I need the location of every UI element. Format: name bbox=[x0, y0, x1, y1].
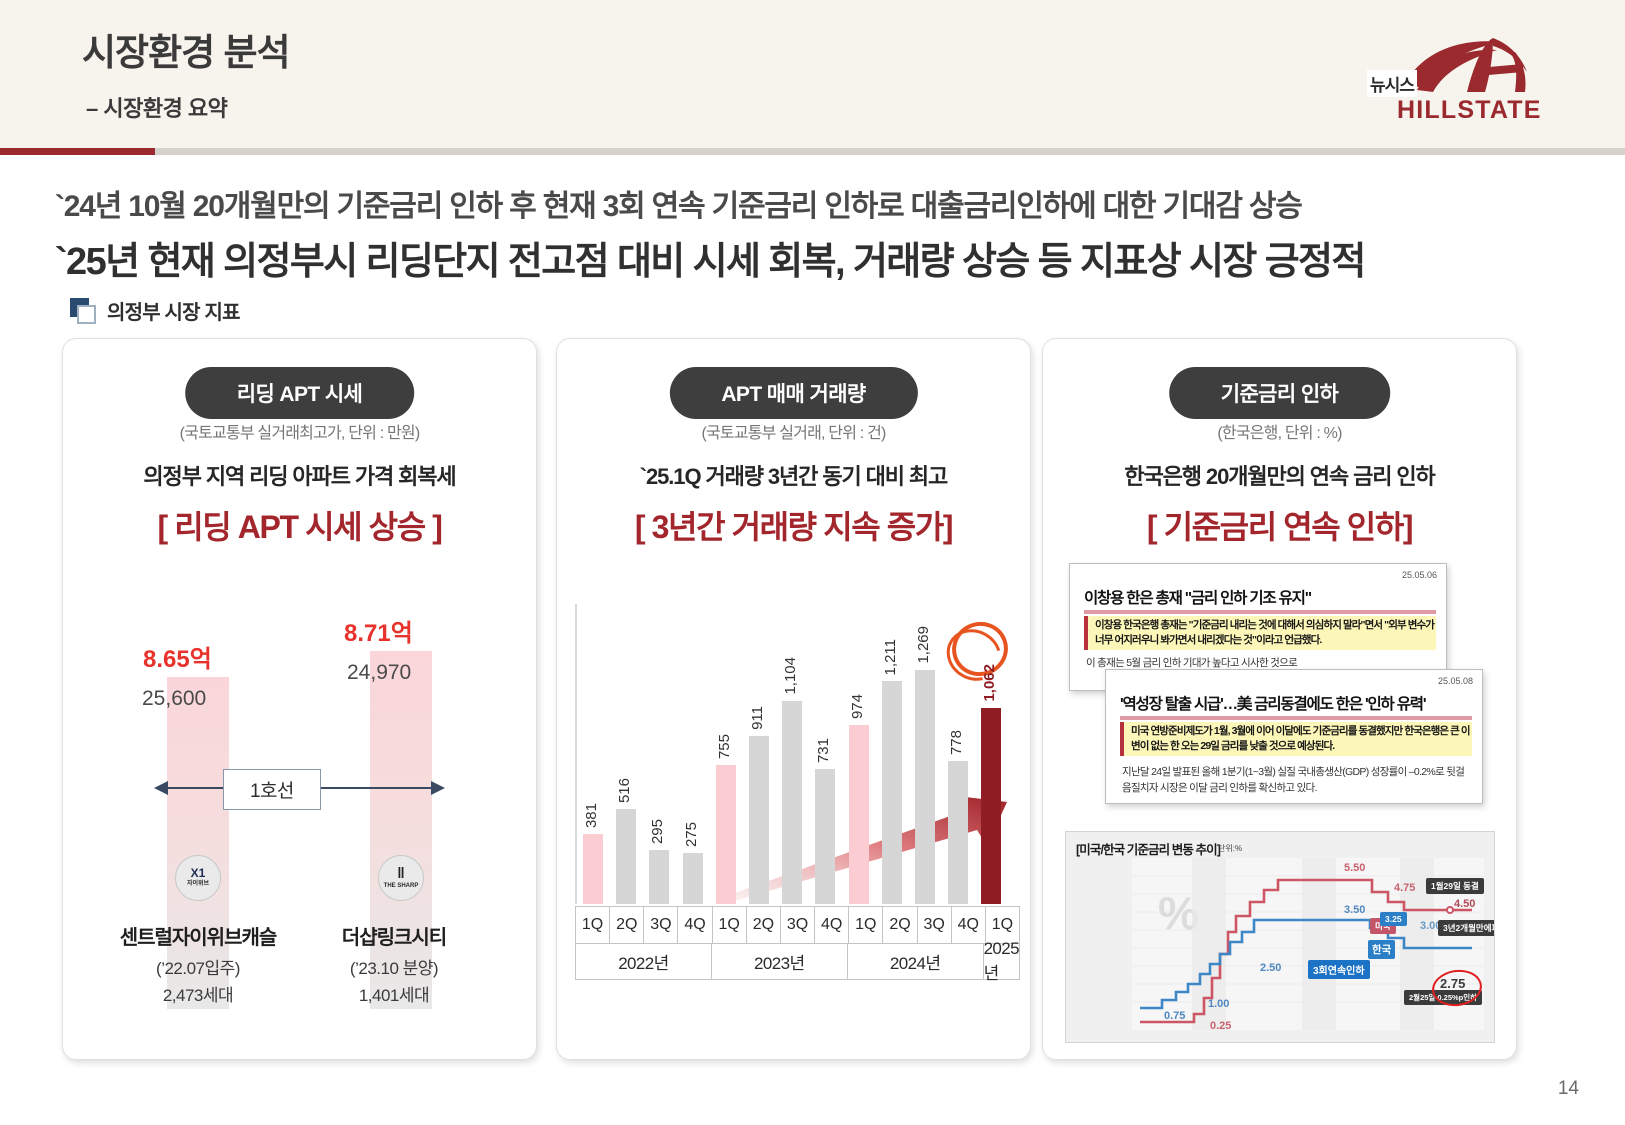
card2-year-label: 2022년 bbox=[575, 944, 711, 980]
card2-quarter-label: 4Q bbox=[677, 906, 711, 944]
card2-bar-value: 1,062 bbox=[981, 664, 1001, 702]
headline-secondary: `25년 현재 의정부시 리딩단지 전고점 대비 시세 회복, 거래량 상승 등… bbox=[55, 230, 1365, 285]
card3-unit-note: (한국은행, 단위 : %) bbox=[1217, 419, 1341, 443]
news1-headline: 이창용 한은 총재 "금리 인하 기조 유지" bbox=[1084, 586, 1436, 614]
card2-quarter-axis: 1Q2Q3Q4Q1Q2Q3Q4Q1Q2Q3Q4Q1Q bbox=[575, 906, 1020, 944]
card2-quarter-label: 3Q bbox=[917, 906, 951, 944]
card2-bar-value: 911 bbox=[749, 706, 769, 730]
card2-bar-value: 731 bbox=[815, 738, 835, 763]
card2-unit-note: (국토교통부 실거래, 단위 : 건) bbox=[701, 419, 885, 443]
rate-tag-us-freeze: 1월29일 동결 bbox=[1426, 878, 1484, 894]
card3-key-message: [ 기준금리 연속 인하] bbox=[1147, 502, 1412, 548]
card2-quarter-label: 3Q bbox=[780, 906, 814, 944]
card1-key-message: [ 리딩 APT 시세 상승 ] bbox=[157, 502, 441, 548]
rate-tag-three-cuts: 3회연속인하 bbox=[1308, 960, 1370, 979]
card2-year-label: 2025년 bbox=[983, 944, 1020, 980]
rate-chart-title: [미국/한국 기준금리 변동 추이] bbox=[1076, 839, 1220, 858]
card1-brand-logo-right: ‖ THE SHARP bbox=[378, 855, 424, 901]
card2-bar-value: 755 bbox=[716, 734, 736, 759]
rate-chart-unit: 단위:% bbox=[1218, 843, 1242, 854]
section-label-text: 의정부 시장 지표 bbox=[107, 296, 240, 325]
card2-bar-value: 974 bbox=[849, 694, 869, 719]
card1-chart: 8.65억 8.71억 25,600 24,970 1호선 X1 자이위브 ‖ … bbox=[63, 589, 538, 1061]
card2-bar-value: 275 bbox=[683, 822, 703, 847]
page-subtitle: – 시장환경 요약 bbox=[86, 91, 227, 123]
card2-bar-value: 1,104 bbox=[782, 657, 802, 695]
rate-label-us-550: 5.50 bbox=[1344, 862, 1365, 874]
slide-root: 시장환경 분석 – 시장환경 요약 뉴시스 HILLSTATE `24년 10월… bbox=[0, 0, 1625, 1125]
rate-label-kr-075: 0.75 bbox=[1164, 1010, 1185, 1022]
document-icon bbox=[70, 298, 96, 324]
card1-pill-title: 리딩 APT 시세 bbox=[185, 367, 415, 419]
card2-key-message: [ 3년간 거래량 지속 증가] bbox=[635, 502, 952, 548]
card3-description: 한국은행 20개월만의 연속 금리 인하 bbox=[1124, 459, 1434, 491]
card2-bar-value: 1,269 bbox=[915, 626, 935, 664]
card2-pill-title: APT 매매 거래량 bbox=[669, 367, 917, 419]
card3-pill-title: 기준금리 인하 bbox=[1169, 367, 1391, 419]
header-rule-accent bbox=[0, 148, 155, 155]
newsis-wordmark: 뉴시스 bbox=[1367, 70, 1417, 97]
rate-label-kr-350: 3.50 bbox=[1344, 904, 1365, 916]
news1-highlight: 이창용 한국은행 총재는 "기준금리 내리는 것에 대해서 의심하지 말라"면서… bbox=[1084, 616, 1436, 650]
card2-y-axis bbox=[575, 604, 577, 904]
card2-plot-area: 3815162952757559111,1047319741,2111,2697… bbox=[569, 604, 1020, 904]
rate-label-us-025: 0.25 bbox=[1210, 1020, 1231, 1032]
card1-bar-top-label-left: 8.65억 bbox=[143, 639, 212, 674]
card2-quarter-label: 4Q bbox=[814, 906, 848, 944]
card2-quarter-label: 1Q bbox=[575, 906, 609, 944]
card2-quarter-label: 2Q bbox=[609, 906, 643, 944]
card1-bar-value-left: 25,600 bbox=[142, 687, 206, 711]
hillstate-swoosh-icon bbox=[1397, 34, 1537, 96]
rate-tag-pivot: 3년2개월만에피벗 bbox=[1438, 920, 1495, 936]
card2-chart: 3815162952757559111,1047319741,2111,2697… bbox=[569, 604, 1020, 1054]
card2-bar-value: 295 bbox=[649, 819, 669, 844]
rate-plot-area: % 5.50 bbox=[1132, 858, 1484, 1030]
rate-label-kr-250: 2.50 bbox=[1260, 962, 1281, 974]
card2-quarter-label: 2Q bbox=[746, 906, 780, 944]
news2-body: 지난달 24일 발표된 올해 1분기(1~3월) 실질 국내총생산(GDP) 성… bbox=[1122, 765, 1472, 797]
header-rule bbox=[155, 148, 1625, 155]
card1-bar-value-right: 24,970 bbox=[347, 661, 411, 685]
rate-label-us-475: 4.75 bbox=[1394, 882, 1415, 894]
card2-quarter-label: 3Q bbox=[643, 906, 677, 944]
headline-primary: `24년 10월 20개월만의 기준금리 인하 후 현재 3회 연속 기준금리 … bbox=[55, 181, 1302, 225]
card2-year-label: 2024년 bbox=[847, 944, 983, 980]
hillstate-wordmark: HILLSTATE bbox=[1397, 96, 1542, 125]
card2-year-label: 2023년 bbox=[711, 944, 847, 980]
news2-date: 25.05.08 bbox=[1438, 676, 1473, 686]
card1-unit-note: (국토교통부 실거래최고가, 단위 : 만원) bbox=[180, 419, 420, 443]
section-label: 의정부 시장 지표 bbox=[70, 296, 240, 325]
news2-headline: '역성장 탈출 시급'…美 금리동결에도 한은 '인하 유력' bbox=[1120, 692, 1472, 720]
card-leading-apt-price[interactable]: 리딩 APT 시세 (국토교통부 실거래최고가, 단위 : 만원) 의정부 지역… bbox=[62, 338, 537, 1060]
card2-quarter-label: 4Q bbox=[951, 906, 985, 944]
card-apt-transaction-volume[interactable]: APT 매매 거래량 (국토교통부 실거래, 단위 : 건) `25.1Q 거래… bbox=[556, 338, 1031, 1060]
slide-header: 시장환경 분석 – 시장환경 요약 뉴시스 HILLSTATE bbox=[0, 0, 1625, 148]
card2-quarter-label: 1Q bbox=[848, 906, 882, 944]
card2-quarter-label: 2Q bbox=[882, 906, 916, 944]
rate-label-us-450: 4.50 bbox=[1454, 898, 1475, 910]
card1-apt-info-right: 더샵링크시티 (’23.10 분양) 1,401세대 bbox=[279, 921, 509, 1006]
page-number: 14 bbox=[1558, 1078, 1579, 1100]
card2-bar-value: 778 bbox=[948, 730, 968, 755]
news2-highlight: 미국 연방준비제도가 1월, 3월에 이어 이달에도 기준금리를 동결했지만 한… bbox=[1120, 722, 1472, 756]
card2-year-axis: 2022년2023년2024년2025년 bbox=[575, 944, 1020, 980]
card2-quarter-label: 1Q bbox=[712, 906, 746, 944]
rate-tag-325: 3.25 bbox=[1380, 912, 1407, 926]
card1-brand-logo-left: X1 자이위브 bbox=[175, 855, 221, 901]
rate-label-kr-100: 1.00 bbox=[1208, 998, 1229, 1010]
card2-bar-value: 1,211 bbox=[882, 639, 902, 675]
page-title: 시장환경 분석 bbox=[82, 22, 290, 76]
card2-bar-value: 381 bbox=[583, 803, 603, 828]
hillstate-logo: 뉴시스 HILLSTATE bbox=[1367, 34, 1537, 124]
card2-description: `25.1Q 거래량 3년간 동기 대비 최고 bbox=[640, 459, 947, 491]
rate-trend-chart: [미국/한국 기준금리 변동 추이] 단위:% % bbox=[1065, 831, 1495, 1043]
card1-description: 의정부 지역 리딩 아파트 가격 회복세 bbox=[143, 459, 455, 491]
legend-tag-kr: 한국 bbox=[1368, 940, 1395, 959]
news1-date: 25.05.06 bbox=[1402, 570, 1437, 580]
card1-subway-line-label: 1호선 bbox=[223, 769, 321, 810]
card2-bar-value: 516 bbox=[616, 778, 636, 803]
rate-label-kr-275: 2.75 bbox=[1440, 976, 1465, 991]
card1-bar-top-label-right: 8.71억 bbox=[344, 613, 413, 648]
card-base-rate-cut[interactable]: 기준금리 인하 (한국은행, 단위 : %) 한국은행 20개월만의 연속 금리… bbox=[1042, 338, 1517, 1060]
news-clipping-2: 25.05.08 '역성장 탈출 시급'…美 금리동결에도 한은 '인하 유력'… bbox=[1105, 669, 1483, 804]
